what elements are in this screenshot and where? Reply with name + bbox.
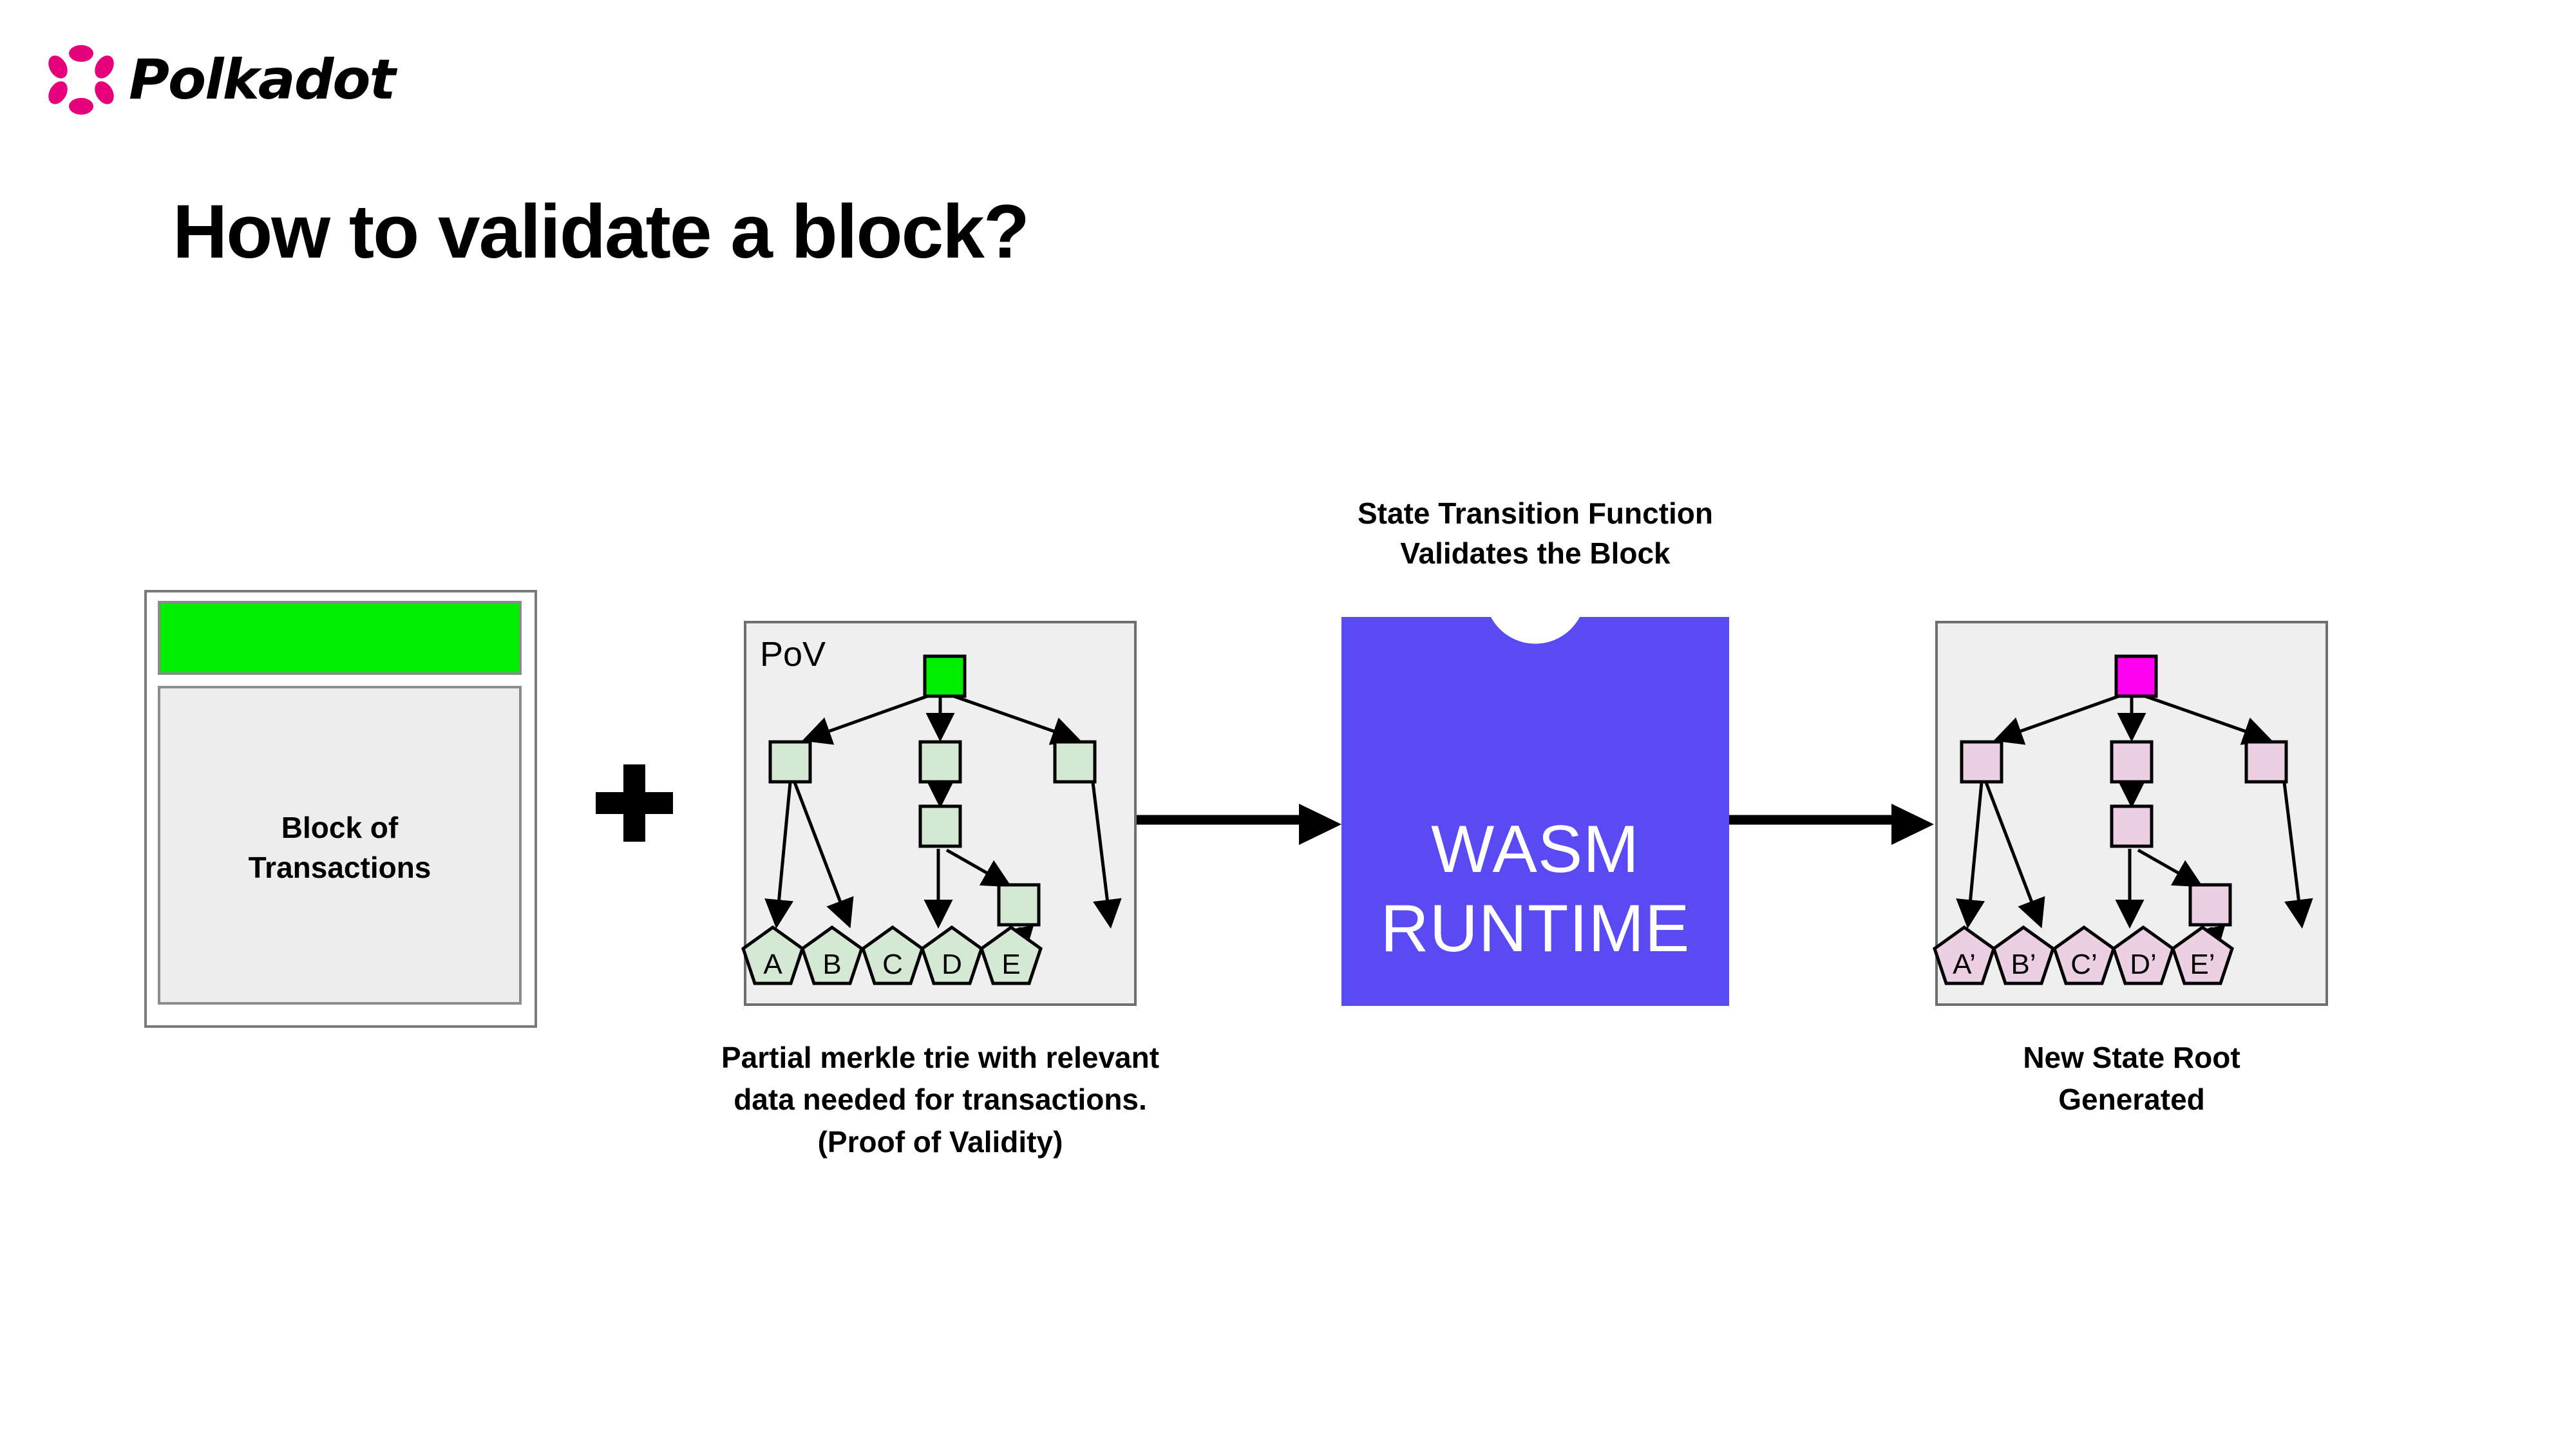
wasm-heading: State Transition Function Validates the … xyxy=(1297,493,1774,573)
slide-canvas: Polkadot How to validate a block? Block … xyxy=(0,0,2576,1449)
plus-icon xyxy=(586,755,683,851)
new-state-caption: New State Root Generated xyxy=(1938,1037,2325,1121)
pov-caption: Partial merkle trie with relevant data n… xyxy=(618,1037,1262,1163)
new-state-caption-line1: New State Root xyxy=(1938,1037,2325,1079)
pov-caption-line1: Partial merkle trie with relevant xyxy=(618,1037,1262,1079)
wasm-runtime-block: WASM RUNTIME xyxy=(1341,617,1729,1006)
new-state-caption-line2: Generated xyxy=(1938,1079,2325,1121)
pov-panel xyxy=(744,621,1137,1006)
block-body-label: Block of Transactions xyxy=(158,808,522,887)
arrow-wasm-to-new-state xyxy=(1729,795,1935,853)
wasm-heading-line2: Validates the Block xyxy=(1297,533,1774,573)
wasm-puzzle-shape xyxy=(1341,617,1729,1006)
wasm-heading-line1: State Transition Function xyxy=(1297,493,1774,533)
page-title: How to validate a block? xyxy=(173,188,1028,276)
block-body-label-line1: Block of xyxy=(158,808,522,848)
pov-label: PoV xyxy=(760,634,826,674)
pov-caption-line2: data needed for transactions. xyxy=(618,1079,1262,1121)
brand-wordmark: Polkadot xyxy=(129,44,395,116)
new-state-panel xyxy=(1935,621,2328,1006)
pov-caption-line3: (Proof of Validity) xyxy=(618,1121,1262,1163)
block-body-label-line2: Transactions xyxy=(158,848,522,887)
polkadot-brand: Polkadot xyxy=(45,39,457,122)
polkadot-dots-icon xyxy=(45,44,117,116)
arrow-pov-to-wasm xyxy=(1137,795,1343,853)
block-header-bar xyxy=(158,601,522,675)
